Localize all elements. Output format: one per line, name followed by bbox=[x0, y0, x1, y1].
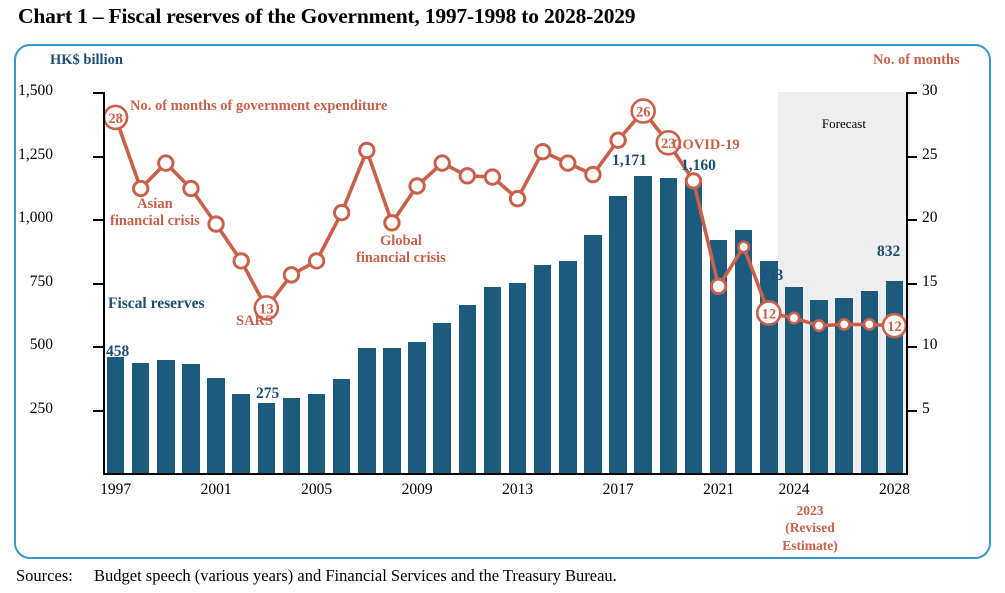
line-marker-2021 bbox=[711, 279, 725, 293]
right-tick-25 bbox=[906, 156, 917, 158]
right-tick-30 bbox=[906, 92, 917, 94]
fiscal-reserves-legend: Fiscal reserves bbox=[108, 295, 205, 313]
x-axis-label-2009: 2009 bbox=[387, 481, 447, 499]
left-tick-label-500: 500 bbox=[30, 336, 53, 354]
right-tick-5 bbox=[906, 410, 917, 412]
right-tick-label-25: 25 bbox=[922, 146, 938, 164]
series-line-legend-line: No. of months of government expenditure bbox=[130, 98, 388, 115]
right-tick-label-5: 5 bbox=[922, 400, 930, 418]
line-marker-2014 bbox=[535, 144, 549, 158]
line-marker-2027 bbox=[864, 319, 874, 329]
left-tick-500 bbox=[93, 346, 104, 348]
left-tick-label-750: 750 bbox=[30, 273, 53, 291]
line-marker-2013 bbox=[510, 191, 524, 205]
left-tick-label-1000: 1,000 bbox=[18, 209, 53, 227]
sars: SARS bbox=[236, 313, 273, 330]
right-tick-label-10: 10 bbox=[922, 336, 938, 354]
covid-19: COVID-19 bbox=[672, 137, 740, 154]
line-marker-2016 bbox=[586, 167, 600, 181]
line-marker-2012 bbox=[485, 170, 499, 184]
x-axis-label-2021: 2021 bbox=[689, 481, 749, 499]
x-axis-label-2005: 2005 bbox=[287, 481, 347, 499]
asian-financial-crisis: Asianfinancial crisis bbox=[110, 196, 200, 229]
value-2018: 1,171 bbox=[612, 152, 647, 170]
svg-text:26: 26 bbox=[636, 104, 651, 120]
months-line-series: 281326231212 bbox=[103, 92, 907, 473]
line-marker-1998 bbox=[133, 181, 147, 195]
global-financial-crisis-line: Global bbox=[356, 233, 446, 250]
value-2028: 832 bbox=[877, 243, 900, 261]
x-axis-label-2013: 2013 bbox=[488, 481, 548, 499]
line-marker-2006 bbox=[334, 205, 348, 219]
x-axis-label-2017: 2017 bbox=[588, 481, 648, 499]
line-marker-2009 bbox=[410, 179, 424, 193]
left-tick-1500 bbox=[93, 92, 104, 94]
line-marker-2004 bbox=[284, 268, 298, 282]
months-line-path bbox=[116, 111, 895, 326]
right-tick-15 bbox=[906, 283, 917, 285]
x-axis-label-2028: 2028 bbox=[864, 481, 924, 499]
sars-line: SARS bbox=[236, 313, 273, 330]
right-tick-label-30: 30 bbox=[922, 82, 938, 100]
bottom-axis-line bbox=[103, 473, 908, 475]
line-marker-2001 bbox=[209, 217, 223, 231]
svg-text:28: 28 bbox=[108, 111, 123, 127]
left-tick-label-1250: 1,250 bbox=[18, 146, 53, 164]
line-marker-2011 bbox=[460, 169, 474, 183]
left-tick-1000 bbox=[93, 219, 104, 221]
series-line-legend: No. of months of government expenditure bbox=[130, 98, 388, 115]
revised-estimate-year: 2023 bbox=[755, 502, 865, 519]
line-marker-2000 bbox=[184, 181, 198, 195]
x-axis-label-2024: 2024 bbox=[764, 481, 824, 499]
revised-estimate-callout: 2023 (Revised Estimate) bbox=[755, 502, 865, 554]
sources-text: Budget speech (various years) and Financ… bbox=[94, 566, 617, 585]
svg-text:12: 12 bbox=[887, 319, 902, 335]
global-financial-crisis-line: financial crisis bbox=[356, 250, 446, 267]
right-tick-10 bbox=[906, 346, 917, 348]
left-tick-250 bbox=[93, 410, 104, 412]
line-marker-2007 bbox=[360, 143, 374, 157]
left-tick-1250 bbox=[93, 156, 104, 158]
x-axis-label-1997: 1997 bbox=[86, 481, 146, 499]
line-marker-2005 bbox=[309, 254, 323, 268]
line-marker-2002 bbox=[234, 254, 248, 268]
line-marker-2010 bbox=[435, 156, 449, 170]
callout-12b: 12 bbox=[883, 314, 906, 337]
right-tick-label-20: 20 bbox=[922, 209, 938, 227]
value-1997: 458 bbox=[106, 343, 129, 361]
x-axis-label-2001: 2001 bbox=[186, 481, 246, 499]
callout-12a: 12 bbox=[757, 301, 780, 324]
line-marker-2026 bbox=[839, 319, 849, 329]
revised-estimate-line1: (Revised bbox=[755, 519, 865, 536]
callout-26: 26 bbox=[632, 100, 655, 123]
sources-label: Sources: bbox=[16, 566, 94, 586]
asian-financial-crisis-line: financial crisis bbox=[110, 213, 200, 230]
line-marker-2025 bbox=[814, 320, 824, 330]
fiscal-reserves-legend-line: Fiscal reserves bbox=[108, 295, 205, 313]
left-axis-caption: HK$ billion bbox=[50, 52, 123, 69]
revised-estimate-line2: Estimate) bbox=[755, 537, 865, 554]
value-2003: 275 bbox=[256, 385, 279, 403]
global-financial-crisis: Globalfinancial crisis bbox=[356, 233, 446, 266]
right-axis-caption: No. of months bbox=[873, 52, 960, 69]
callout-28: 28 bbox=[104, 106, 127, 129]
line-marker-2008 bbox=[385, 216, 399, 230]
plot-area: 281326231212 bbox=[103, 92, 907, 473]
forecast-label: Forecast bbox=[778, 116, 910, 132]
line-marker-2017 bbox=[611, 133, 625, 147]
asian-financial-crisis-line: Asian bbox=[110, 196, 200, 213]
left-tick-label-250: 250 bbox=[30, 400, 53, 418]
sources-note: Sources:Budget speech (various years) an… bbox=[16, 566, 617, 586]
svg-text:12: 12 bbox=[762, 306, 777, 322]
line-marker-2020 bbox=[686, 174, 700, 188]
value-2020: 1,160 bbox=[681, 157, 716, 175]
line-marker-2015 bbox=[561, 156, 575, 170]
page-title: Chart 1 – Fiscal reserves of the Governm… bbox=[18, 4, 635, 29]
left-tick-750 bbox=[93, 283, 104, 285]
line-marker-1999 bbox=[159, 156, 173, 170]
value-2023: 733 bbox=[760, 267, 783, 285]
right-tick-label-15: 15 bbox=[922, 273, 938, 291]
line-marker-2024 bbox=[789, 313, 799, 323]
right-tick-20 bbox=[906, 219, 917, 221]
line-marker-2022 bbox=[738, 242, 748, 252]
left-tick-label-1500: 1,500 bbox=[18, 82, 53, 100]
covid-19-line: COVID-19 bbox=[672, 137, 740, 154]
